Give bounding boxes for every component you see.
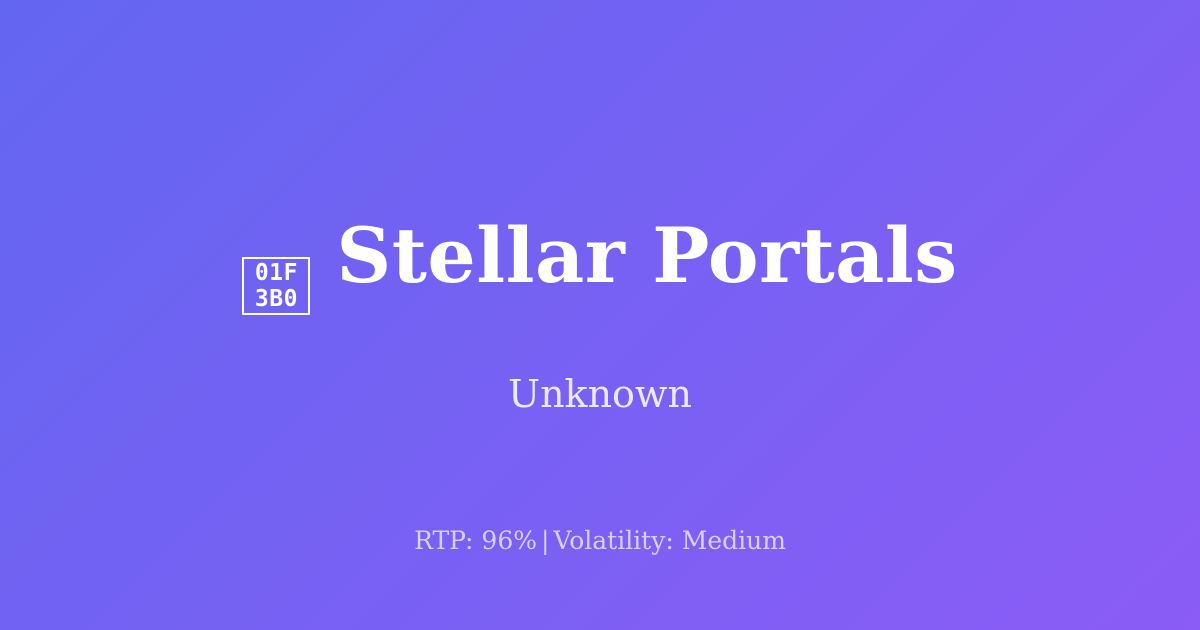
game-stats: RTP: 96%|Volatility: Medium (0, 528, 1200, 553)
slot-machine-icon: 01F 3B0 (242, 257, 310, 315)
game-preview-card: 01F 3B0 Stellar Portals Unknown RTP: 96%… (0, 0, 1200, 630)
page-title: Stellar Portals (336, 218, 957, 294)
stats-separator: | (537, 526, 553, 555)
rtp-value: RTP: 96% (414, 526, 537, 555)
slot-machine-icon-codepoint-bottom: 3B0 (255, 286, 298, 312)
provider-subtitle: Unknown (508, 375, 692, 413)
slot-machine-icon-codepoint-top: 01F (255, 260, 298, 286)
title-row: 01F 3B0 Stellar Portals (242, 218, 957, 317)
volatility-value: Volatility: Medium (553, 526, 785, 555)
